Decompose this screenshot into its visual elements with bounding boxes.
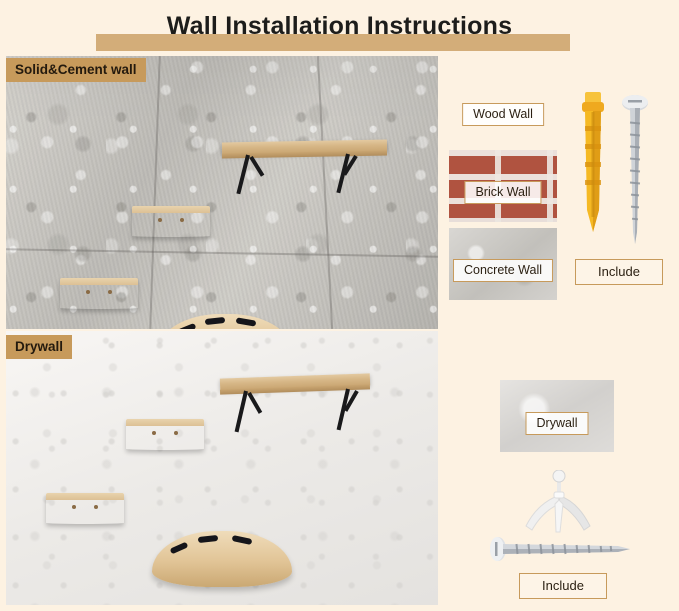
plastic-wall-anchor xyxy=(578,92,608,242)
half-round-wall-step xyxy=(126,419,204,450)
step-top-surface xyxy=(60,278,138,285)
solid-cement-wall-photo xyxy=(6,56,438,329)
toggle-wall-anchor xyxy=(520,470,594,536)
solid-cement-wall-label: Solid&Cement wall xyxy=(6,58,146,82)
screw-icon xyxy=(620,92,650,252)
drywall-swatch-caption: Drywall xyxy=(526,412,589,435)
wood-wall-caption: Wood Wall xyxy=(462,103,544,126)
wall-anchor-icon xyxy=(578,92,608,242)
brick-wall-caption: Brick Wall xyxy=(464,181,541,204)
step-top-surface xyxy=(126,419,204,426)
instruction-poster: Wall Installation Instructions xyxy=(0,0,679,611)
curved-wall-bridge xyxy=(152,531,292,587)
mounting-hole xyxy=(108,290,112,294)
mounting-hole xyxy=(180,218,184,222)
include-label-top: Include xyxy=(575,259,663,285)
mounting-hole xyxy=(94,505,98,509)
half-round-wall-step xyxy=(46,493,124,524)
page-title: Wall Installation Instructions xyxy=(167,12,512,41)
screw-icon xyxy=(486,536,636,562)
page-title-bar: Wall Installation Instructions xyxy=(0,0,679,52)
curved-bridge-body xyxy=(152,531,292,587)
half-round-wall-step xyxy=(132,206,210,237)
drywall-photo xyxy=(6,331,438,605)
step-top-surface xyxy=(46,493,124,500)
curved-wall-bridge xyxy=(158,314,292,329)
drywall-label: Drywall xyxy=(6,335,72,359)
column-divider xyxy=(440,56,441,605)
mounting-hole xyxy=(152,431,156,435)
concrete-wall-caption: Concrete Wall xyxy=(453,259,553,282)
toggle-anchor-icon xyxy=(520,470,594,536)
step-top-surface xyxy=(132,206,210,213)
include-label-bottom: Include xyxy=(519,573,607,599)
curved-bridge-body xyxy=(158,314,292,329)
mounting-hole xyxy=(72,505,76,509)
metal-screw xyxy=(620,92,650,252)
mounting-hole xyxy=(158,218,162,222)
metal-screw-horizontal xyxy=(486,536,636,562)
half-round-wall-step xyxy=(60,278,138,309)
mounting-hole xyxy=(174,431,178,435)
mounting-hole xyxy=(86,290,90,294)
